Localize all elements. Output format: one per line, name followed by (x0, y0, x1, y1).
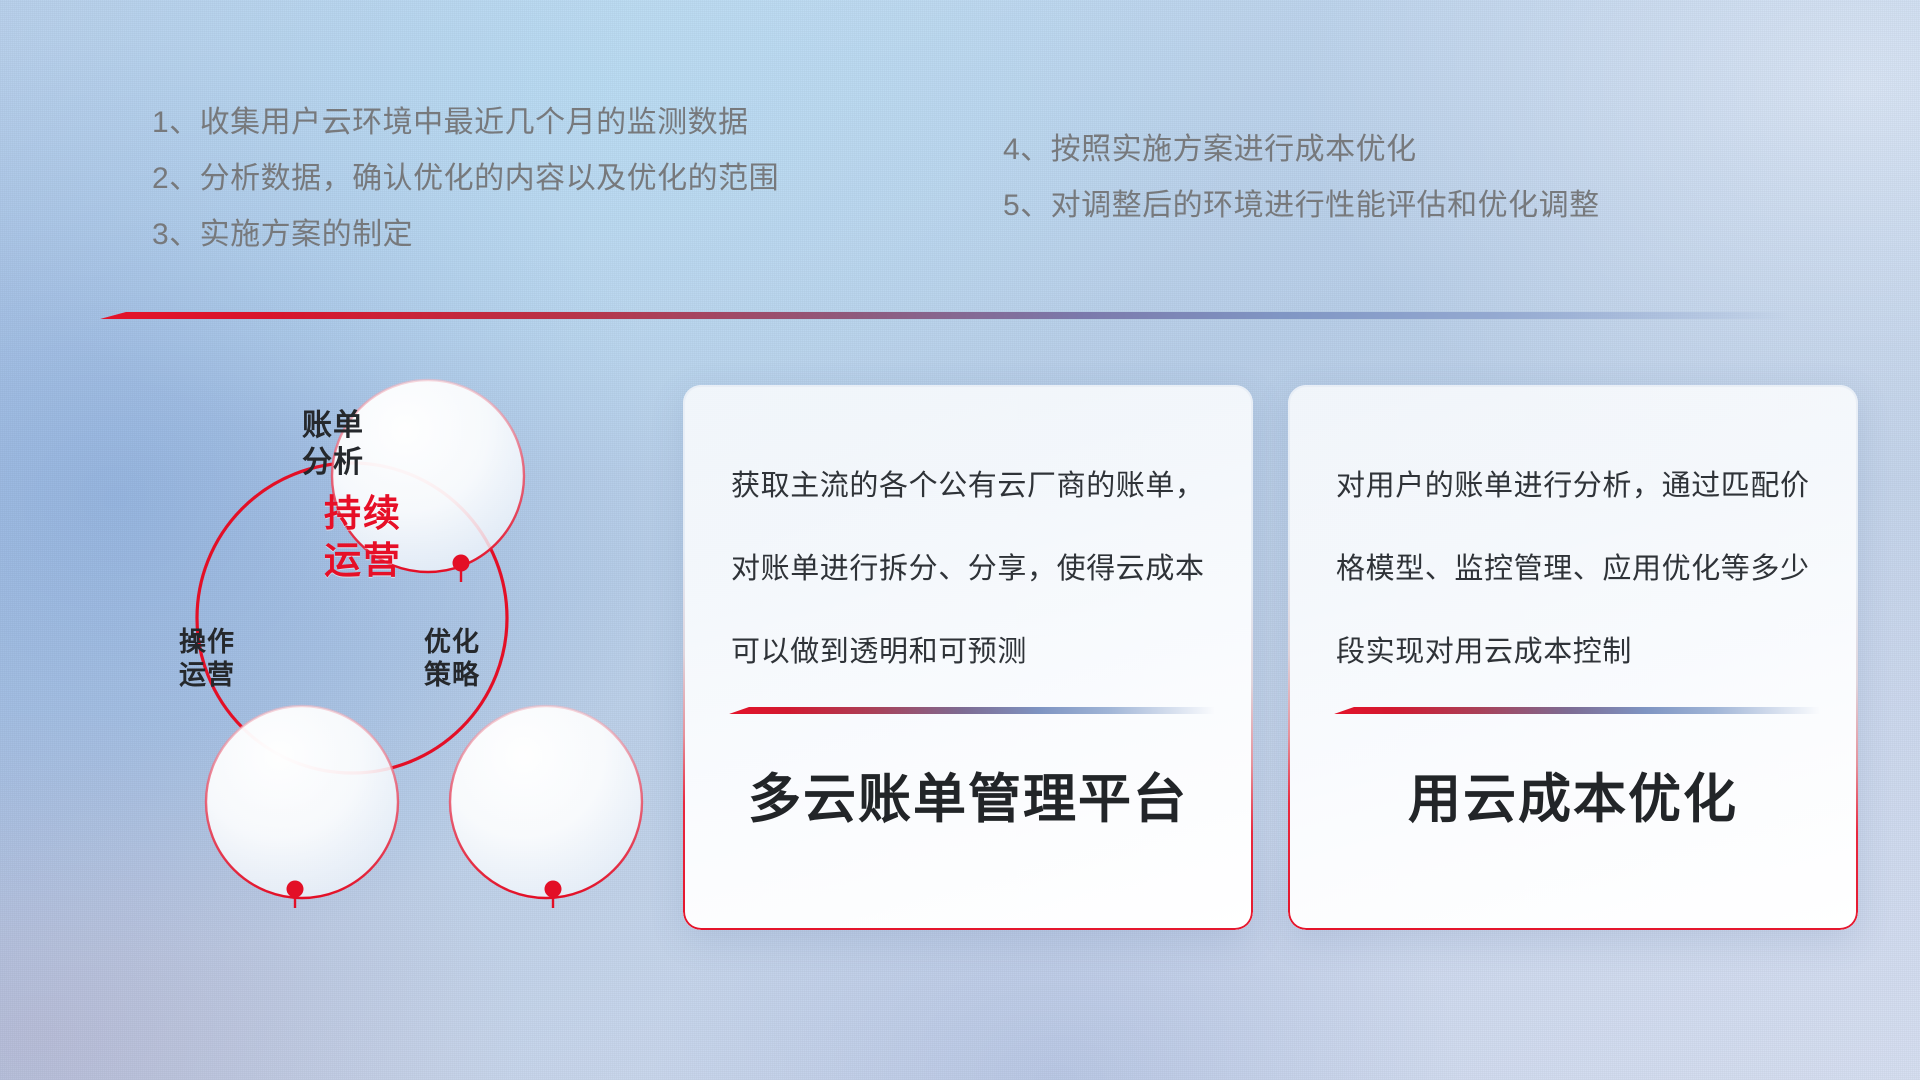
venn-label-center: 持续 运营 (268, 490, 458, 585)
section-divider (100, 312, 1790, 319)
node-dot-right (545, 881, 562, 898)
venn-label-operations: 操作 运营 (122, 626, 292, 692)
card-2-title: 用云成本优化 (1288, 757, 1858, 833)
venn-label-bill-line2: 分析 (243, 445, 423, 482)
venn-label-ops-line2: 运营 (122, 659, 292, 692)
venn-center-line2: 运营 (268, 537, 458, 584)
step-item-2: 2、分析数据，确认优化的内容以及优化的范围 (152, 151, 779, 207)
step-item-5: 5、对调整后的环境进行性能评估和优化调整 (1003, 178, 1600, 234)
card-2-description: 对用户的账单进行分析，通过匹配价格模型、监控管理、应用优化等多少段实现对用云成本… (1336, 445, 1818, 694)
bubble-operations (206, 706, 398, 898)
step-item-3: 3、实施方案的制定 (152, 207, 779, 263)
venn-label-policy-line1: 优化 (367, 626, 537, 659)
venn-label-policy-line2: 策略 (367, 659, 537, 692)
step-item-1: 1、收集用户云环境中最近几个月的监测数据 (152, 95, 779, 151)
bubble-optimization-policy (450, 706, 642, 898)
node-dot-left (287, 881, 304, 898)
card-1-divider (729, 707, 1215, 714)
card-2-divider (1334, 707, 1820, 714)
venn-center-line1: 持续 (268, 490, 458, 537)
venn-label-ops-line1: 操作 (122, 626, 292, 659)
card-cloud-cost-optimization[interactable]: 对用户的账单进行分析，通过匹配价格模型、监控管理、应用优化等多少段实现对用云成本… (1288, 385, 1858, 930)
steps-list-right: 4、按照实施方案进行成本优化 5、对调整后的环境进行性能评估和优化调整 (1003, 122, 1600, 234)
step-item-4: 4、按照实施方案进行成本优化 (1003, 122, 1600, 178)
card-multi-cloud-bill-platform[interactable]: 获取主流的各个公有云厂商的账单，对账单进行拆分、分享，使得云成本可以做到透明和可… (683, 385, 1253, 930)
venn-label-bill-line1: 账单 (243, 408, 423, 445)
card-1-title: 多云账单管理平台 (683, 757, 1253, 833)
card-1-description: 获取主流的各个公有云厂商的账单，对账单进行拆分、分享，使得云成本可以做到透明和可… (731, 445, 1213, 694)
steps-list-left: 1、收集用户云环境中最近几个月的监测数据 2、分析数据，确认优化的内容以及优化的… (152, 95, 779, 263)
venn-label-optimization-policy: 优化 策略 (367, 626, 537, 692)
venn-label-bill-analysis: 账单 分析 (243, 408, 423, 481)
